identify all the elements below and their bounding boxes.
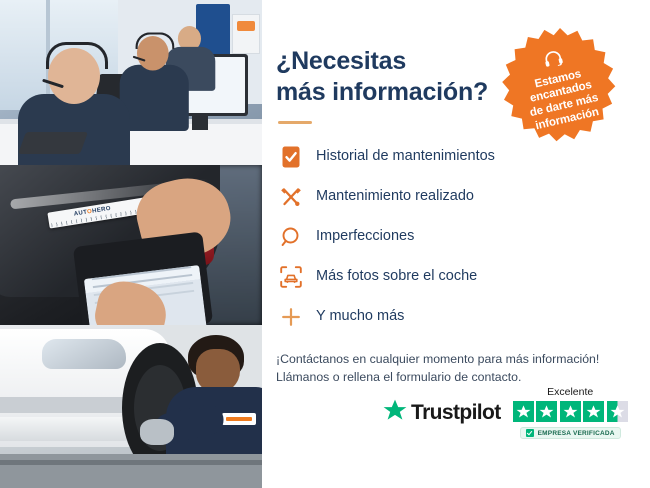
verified-label: EMPRESA VERIFICADA: [538, 430, 615, 437]
crossed-tools-icon: [276, 182, 306, 212]
magnifier-icon: [276, 222, 306, 252]
rating-star-5-half: [607, 401, 628, 422]
trustpilot-logo: Trustpilot: [383, 399, 501, 427]
trustpilot-rating: Excelente EMPRESA: [513, 386, 628, 439]
list-item: Mantenimiento realizado: [276, 182, 624, 212]
wall-poster-white: [232, 14, 260, 54]
trustpilot-widget[interactable]: Trustpilot Excelente: [383, 386, 628, 439]
plus-icon: [276, 302, 306, 332]
car-grille: [0, 397, 138, 413]
list-item-label: Imperfecciones: [316, 229, 414, 245]
ruler-brand-text: AUTOHERO: [74, 206, 112, 218]
rating-star-3: [560, 401, 581, 422]
list-item: Imperfecciones: [276, 222, 624, 252]
rating-star-1: [513, 401, 534, 422]
information-banner: AUTOHERO ¿Necesitas: [0, 0, 650, 488]
trustpilot-star-icon: [383, 399, 407, 427]
car-headlamp: [42, 339, 126, 369]
call-center-agents-photo: [0, 0, 262, 165]
rating-star-4: [583, 401, 604, 422]
uniform-logo: [222, 413, 256, 425]
technician-tyre-check-photo: [0, 325, 262, 488]
list-item-label: Más fotos sobre el coche: [316, 269, 477, 285]
contact-text: ¡Contáctanos en cualquier momento para m…: [276, 350, 624, 387]
features-list: Historial de mantenimientos Mantenimient…: [276, 142, 624, 332]
verified-company-badge: EMPRESA VERIFICADA: [520, 427, 621, 439]
rating-label: Excelente: [547, 386, 593, 398]
list-item: Y mucho más: [276, 302, 624, 332]
contact-line-1: ¡Contáctanos en cualquier momento para m…: [276, 350, 624, 368]
rating-star-2: [536, 401, 557, 422]
list-item-label: Y mucho más: [316, 309, 404, 325]
car-lift-platform: [0, 454, 262, 488]
work-glove: [140, 419, 174, 445]
photo-collage: AUTOHERO: [0, 0, 262, 488]
check-icon: [526, 429, 534, 437]
star-rating: [513, 401, 628, 422]
title-underline: [278, 121, 312, 124]
contact-line-2: Llámanos o rellena el formulario de cont…: [276, 368, 624, 386]
list-item-label: Historial de mantenimientos: [316, 149, 495, 165]
headline-line-1: ¿Necesitas: [276, 47, 406, 75]
checklist-document-icon: [276, 142, 306, 172]
desk-tablet: [18, 132, 88, 154]
car-inspection-ruler-tablet-photo: AUTOHERO: [0, 165, 262, 325]
status-badge: Estamos encantados de darte más informac…: [497, 25, 623, 151]
trustpilot-wordmark: Trustpilot: [411, 401, 501, 425]
headline-line-2: más información?: [276, 78, 488, 106]
list-item-label: Mantenimiento realizado: [316, 189, 474, 205]
car-scan-frame-icon: [276, 262, 306, 292]
headset-icon: [541, 48, 565, 74]
list-item: Más fotos sobre el coche: [276, 262, 624, 292]
